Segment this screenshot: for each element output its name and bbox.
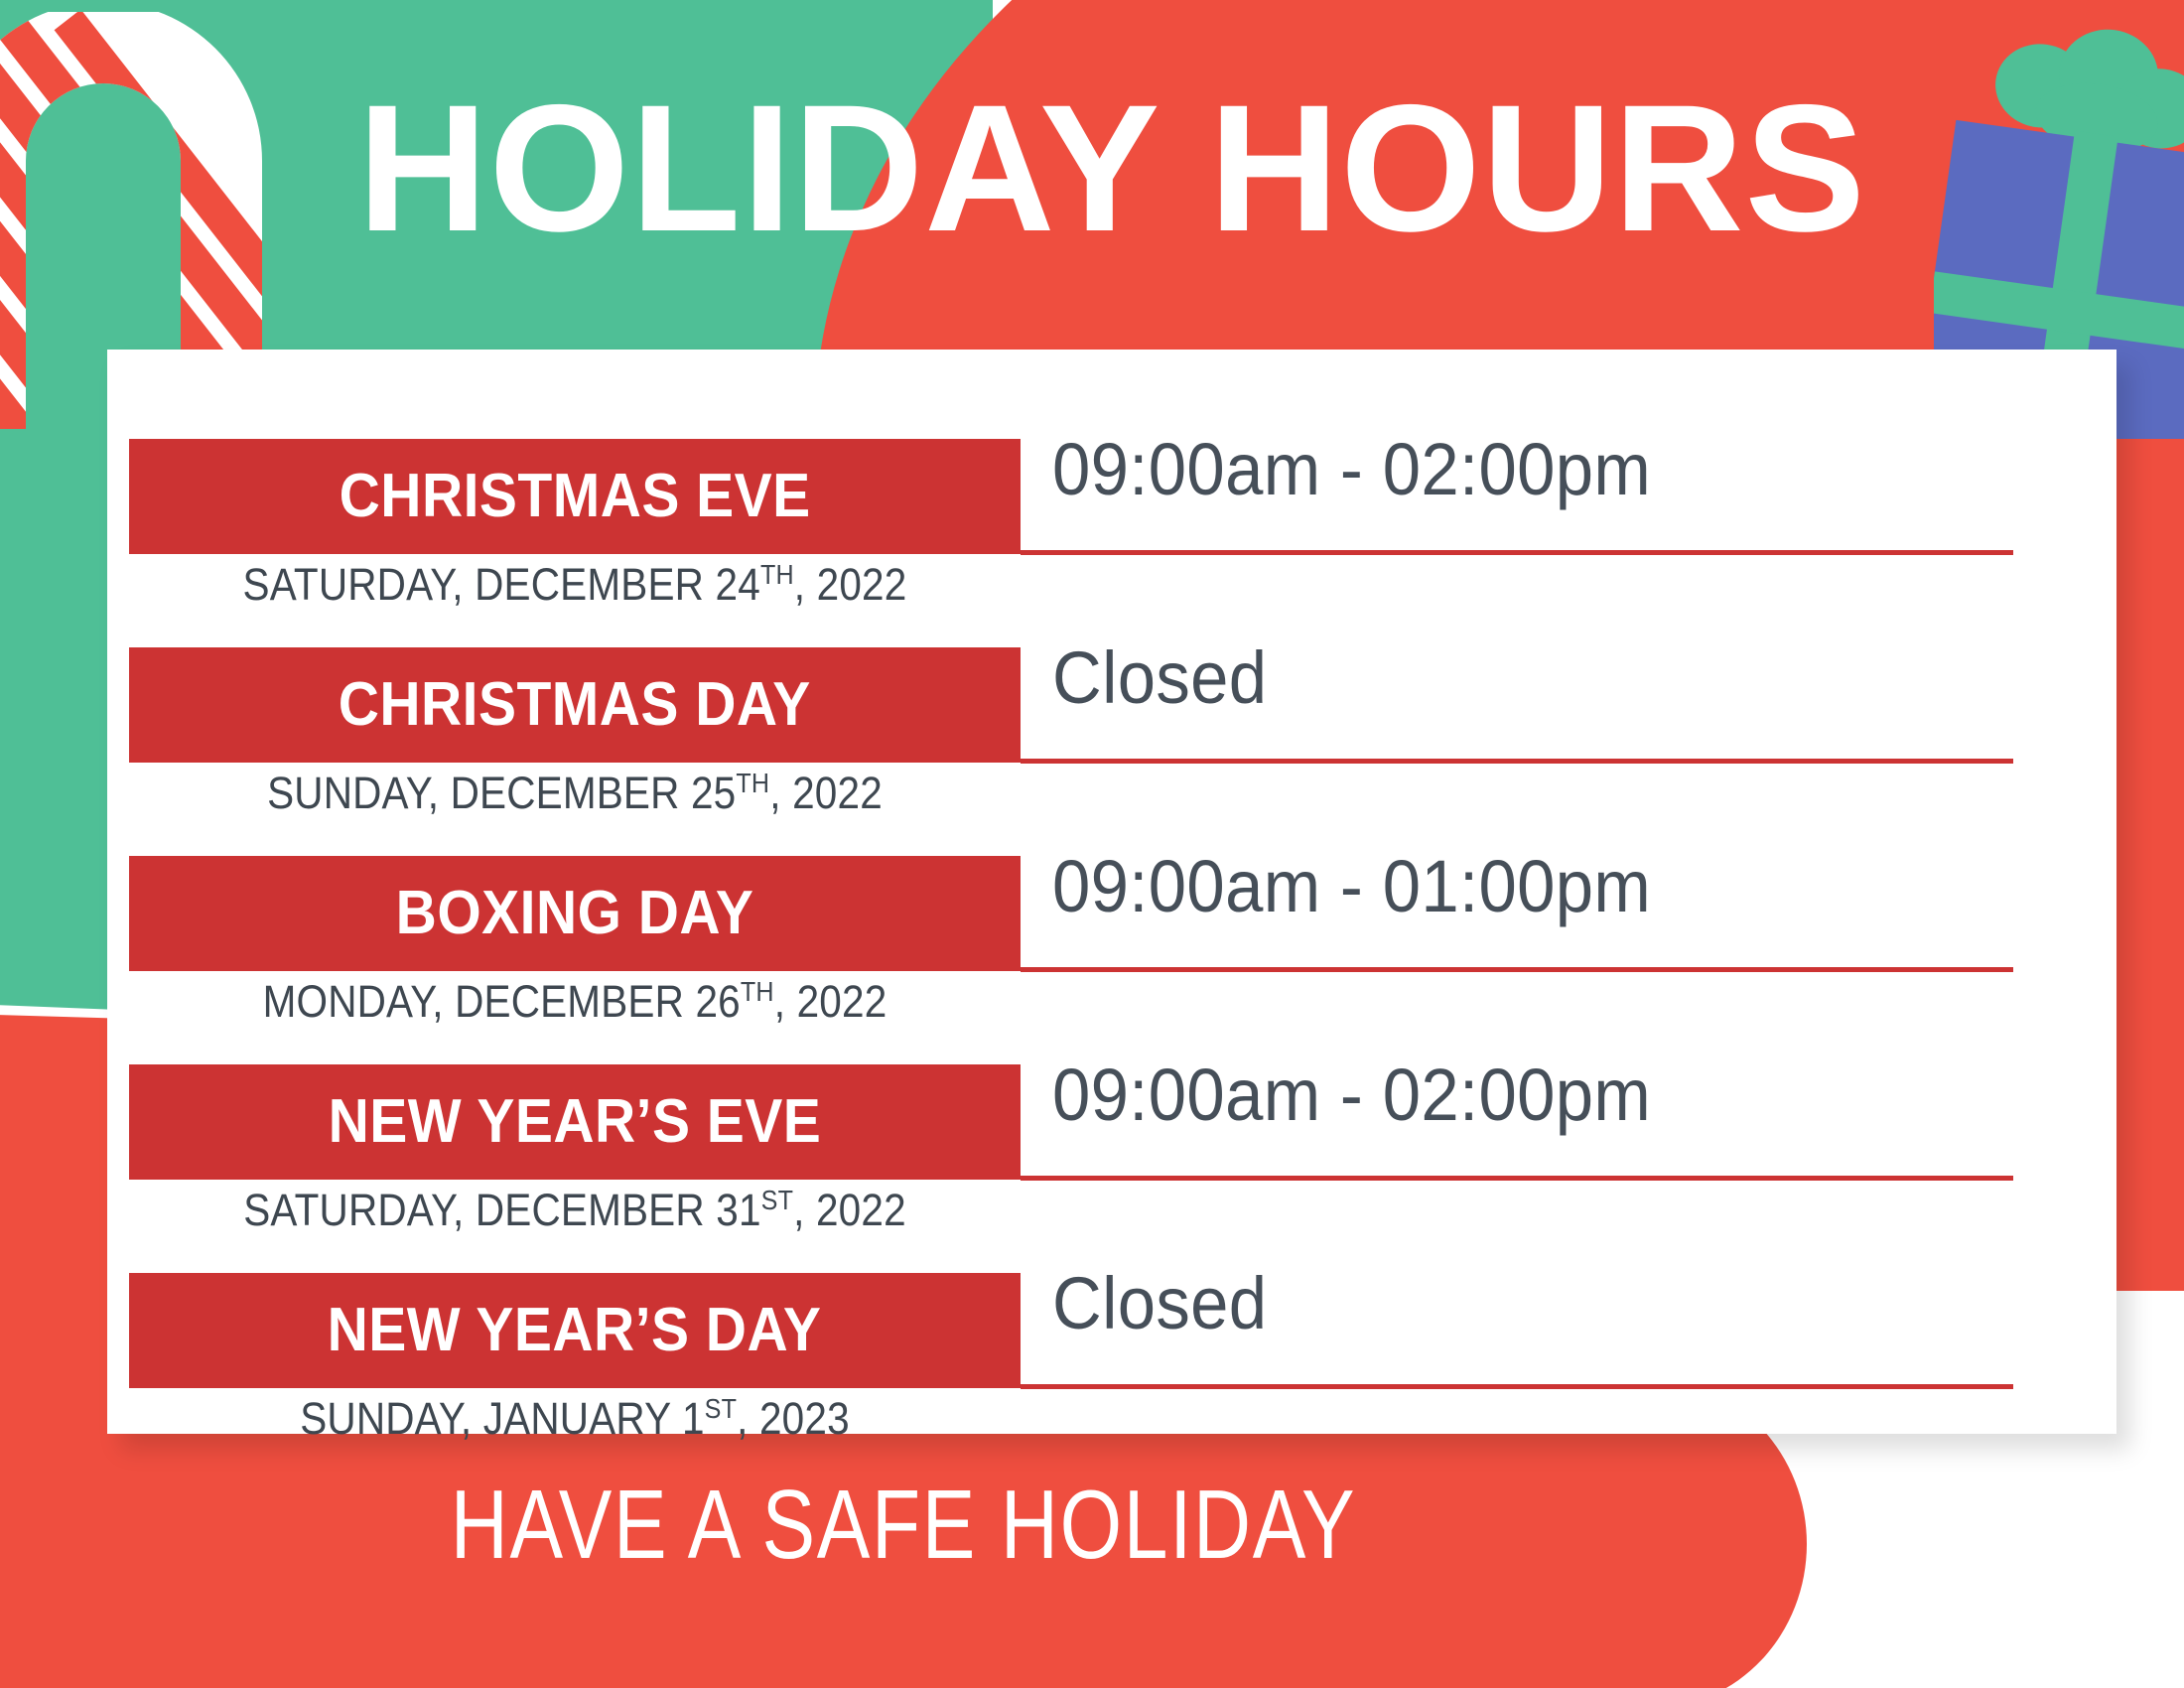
holiday-date-label: SATURDAY, DECEMBER 24TH, 2022 (174, 562, 976, 607)
page-title: HOLIDAY HOURS (0, 77, 2184, 258)
date-ordinal: ST (761, 1185, 793, 1215)
row-divider (1021, 967, 2013, 972)
holiday-hours-value: Closed (1052, 637, 1267, 718)
holiday-name-band: NEW YEAR’S EVE (129, 1064, 1021, 1180)
holiday-date-label: SUNDAY, JANUARY 1ST, 2023 (174, 1396, 976, 1441)
holiday-name-label: NEW YEAR’S DAY (328, 1300, 822, 1361)
date-ordinal: ST (705, 1393, 737, 1424)
schedule-card: CHRISTMAS EVE SATURDAY, DECEMBER 24TH, 2… (107, 350, 2116, 1434)
date-text: SUNDAY, DECEMBER 25 (267, 768, 736, 818)
holiday-hours-poster: HOLIDAY HOURS CHRISTMAS EVE SATURDAY, DE… (0, 0, 2184, 1688)
holiday-name-label: CHRISTMAS EVE (339, 466, 810, 527)
holiday-name-band: NEW YEAR’S DAY (129, 1273, 1021, 1388)
row-divider (1021, 550, 2013, 555)
date-year: , 2023 (737, 1393, 850, 1444)
date-text: SUNDAY, JANUARY 1 (300, 1393, 704, 1444)
date-text: MONDAY, DECEMBER 26 (263, 976, 741, 1027)
table-row: CHRISTMAS EVE SATURDAY, DECEMBER 24TH, 2… (107, 365, 2116, 574)
holiday-hours-value: 09:00am - 02:00pm (1052, 1055, 1651, 1135)
holiday-name-label: BOXING DAY (396, 883, 754, 944)
date-year: , 2022 (793, 1185, 906, 1235)
schedule-rows: CHRISTMAS EVE SATURDAY, DECEMBER 24TH, 2… (107, 350, 2116, 1434)
holiday-name-label: CHRISTMAS DAY (339, 674, 811, 736)
date-year: , 2022 (769, 768, 883, 818)
holiday-hours-value: Closed (1052, 1263, 1267, 1343)
holiday-name-band: CHRISTMAS EVE (129, 439, 1021, 554)
date-ordinal: TH (736, 768, 769, 798)
date-text: SATURDAY, DECEMBER 31 (243, 1185, 760, 1235)
date-year: , 2022 (774, 976, 887, 1027)
holiday-date-label: MONDAY, DECEMBER 26TH, 2022 (174, 979, 976, 1024)
date-ordinal: TH (760, 559, 794, 590)
date-year: , 2022 (794, 559, 907, 610)
row-divider (1021, 759, 2013, 764)
holiday-name-band: CHRISTMAS DAY (129, 647, 1021, 763)
row-divider (1021, 1176, 2013, 1181)
holiday-hours-value: 09:00am - 02:00pm (1052, 429, 1651, 509)
holiday-name-label: NEW YEAR’S EVE (329, 1091, 822, 1153)
date-ordinal: TH (741, 976, 774, 1007)
footer-message: HAVE A SAFE HOLIDAY (163, 1476, 1644, 1573)
holiday-name-band: BOXING DAY (129, 856, 1021, 971)
holiday-date-label: SATURDAY, DECEMBER 31ST, 2022 (174, 1188, 976, 1232)
date-text: SATURDAY, DECEMBER 24 (243, 559, 760, 610)
holiday-date-label: SUNDAY, DECEMBER 25TH, 2022 (174, 771, 976, 815)
holiday-hours-value: 09:00am - 01:00pm (1052, 846, 1651, 926)
row-divider (1021, 1384, 2013, 1389)
